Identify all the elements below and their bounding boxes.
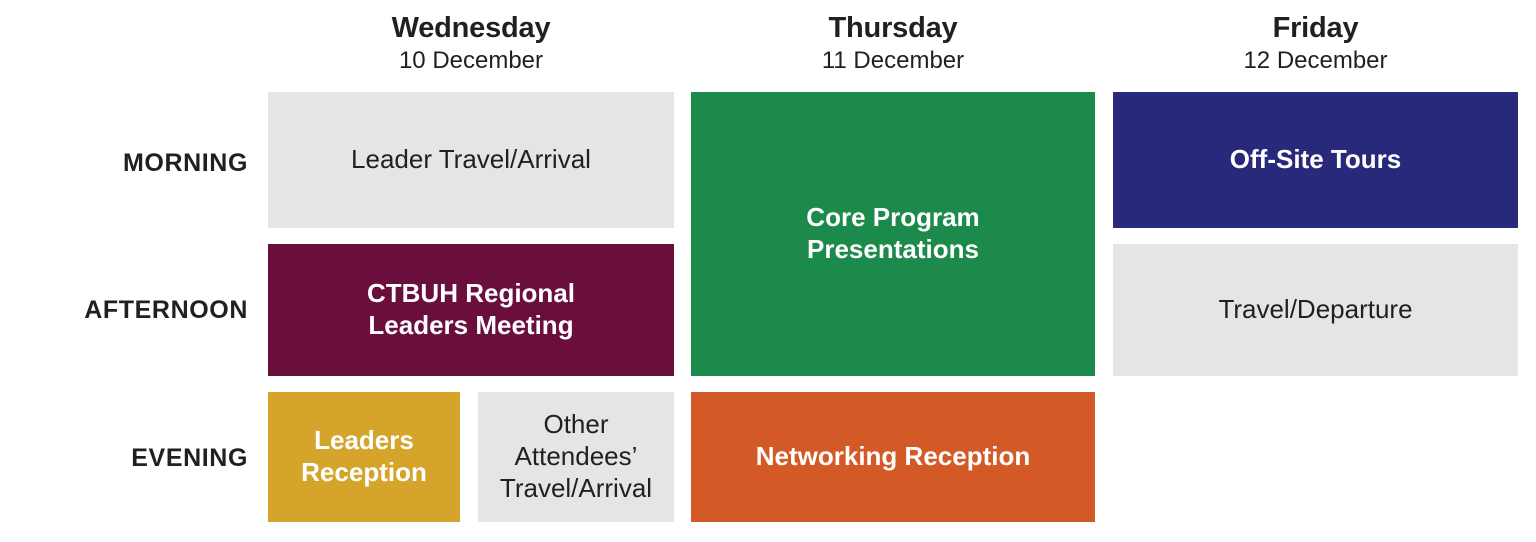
block-travel-departure: Travel/Departure <box>1113 244 1518 376</box>
row-label-morning: MORNING <box>0 149 248 178</box>
block-label: Networking Reception <box>756 441 1030 473</box>
block-leader-travel-arrival: Leader Travel/Arrival <box>268 92 674 228</box>
column-header-wednesday: Wednesday 10 December <box>268 10 674 76</box>
column-header-date: 11 December <box>691 46 1095 76</box>
block-label: CTBUH RegionalLeaders Meeting <box>367 278 575 341</box>
column-header-day: Wednesday <box>268 10 674 46</box>
block-label: OtherAttendees’Travel/Arrival <box>500 409 652 504</box>
row-label-afternoon: AFTERNOON <box>0 296 248 325</box>
column-header-date: 12 December <box>1113 46 1518 76</box>
schedule-grid: Wednesday 10 December Thursday 11 Decemb… <box>0 0 1536 542</box>
block-label: Off-Site Tours <box>1230 144 1401 176</box>
row-label-evening: EVENING <box>0 444 248 473</box>
block-leaders-reception: LeadersReception <box>268 392 460 522</box>
block-other-attendees-travel-arrival: OtherAttendees’Travel/Arrival <box>478 392 674 522</box>
column-header-friday: Friday 12 December <box>1113 10 1518 76</box>
block-off-site-tours: Off-Site Tours <box>1113 92 1518 228</box>
block-networking-reception: Networking Reception <box>691 392 1095 522</box>
block-core-program-presentations: Core ProgramPresentations <box>691 92 1095 376</box>
column-header-date: 10 December <box>268 46 674 76</box>
block-label: Leader Travel/Arrival <box>351 144 591 176</box>
column-header-day: Thursday <box>691 10 1095 46</box>
block-label: Core ProgramPresentations <box>806 202 979 265</box>
block-label: LeadersReception <box>301 425 427 488</box>
block-ctbuh-regional-leaders-meeting: CTBUH RegionalLeaders Meeting <box>268 244 674 376</box>
block-label: Travel/Departure <box>1218 294 1412 326</box>
column-header-day: Friday <box>1113 10 1518 46</box>
column-header-thursday: Thursday 11 December <box>691 10 1095 76</box>
